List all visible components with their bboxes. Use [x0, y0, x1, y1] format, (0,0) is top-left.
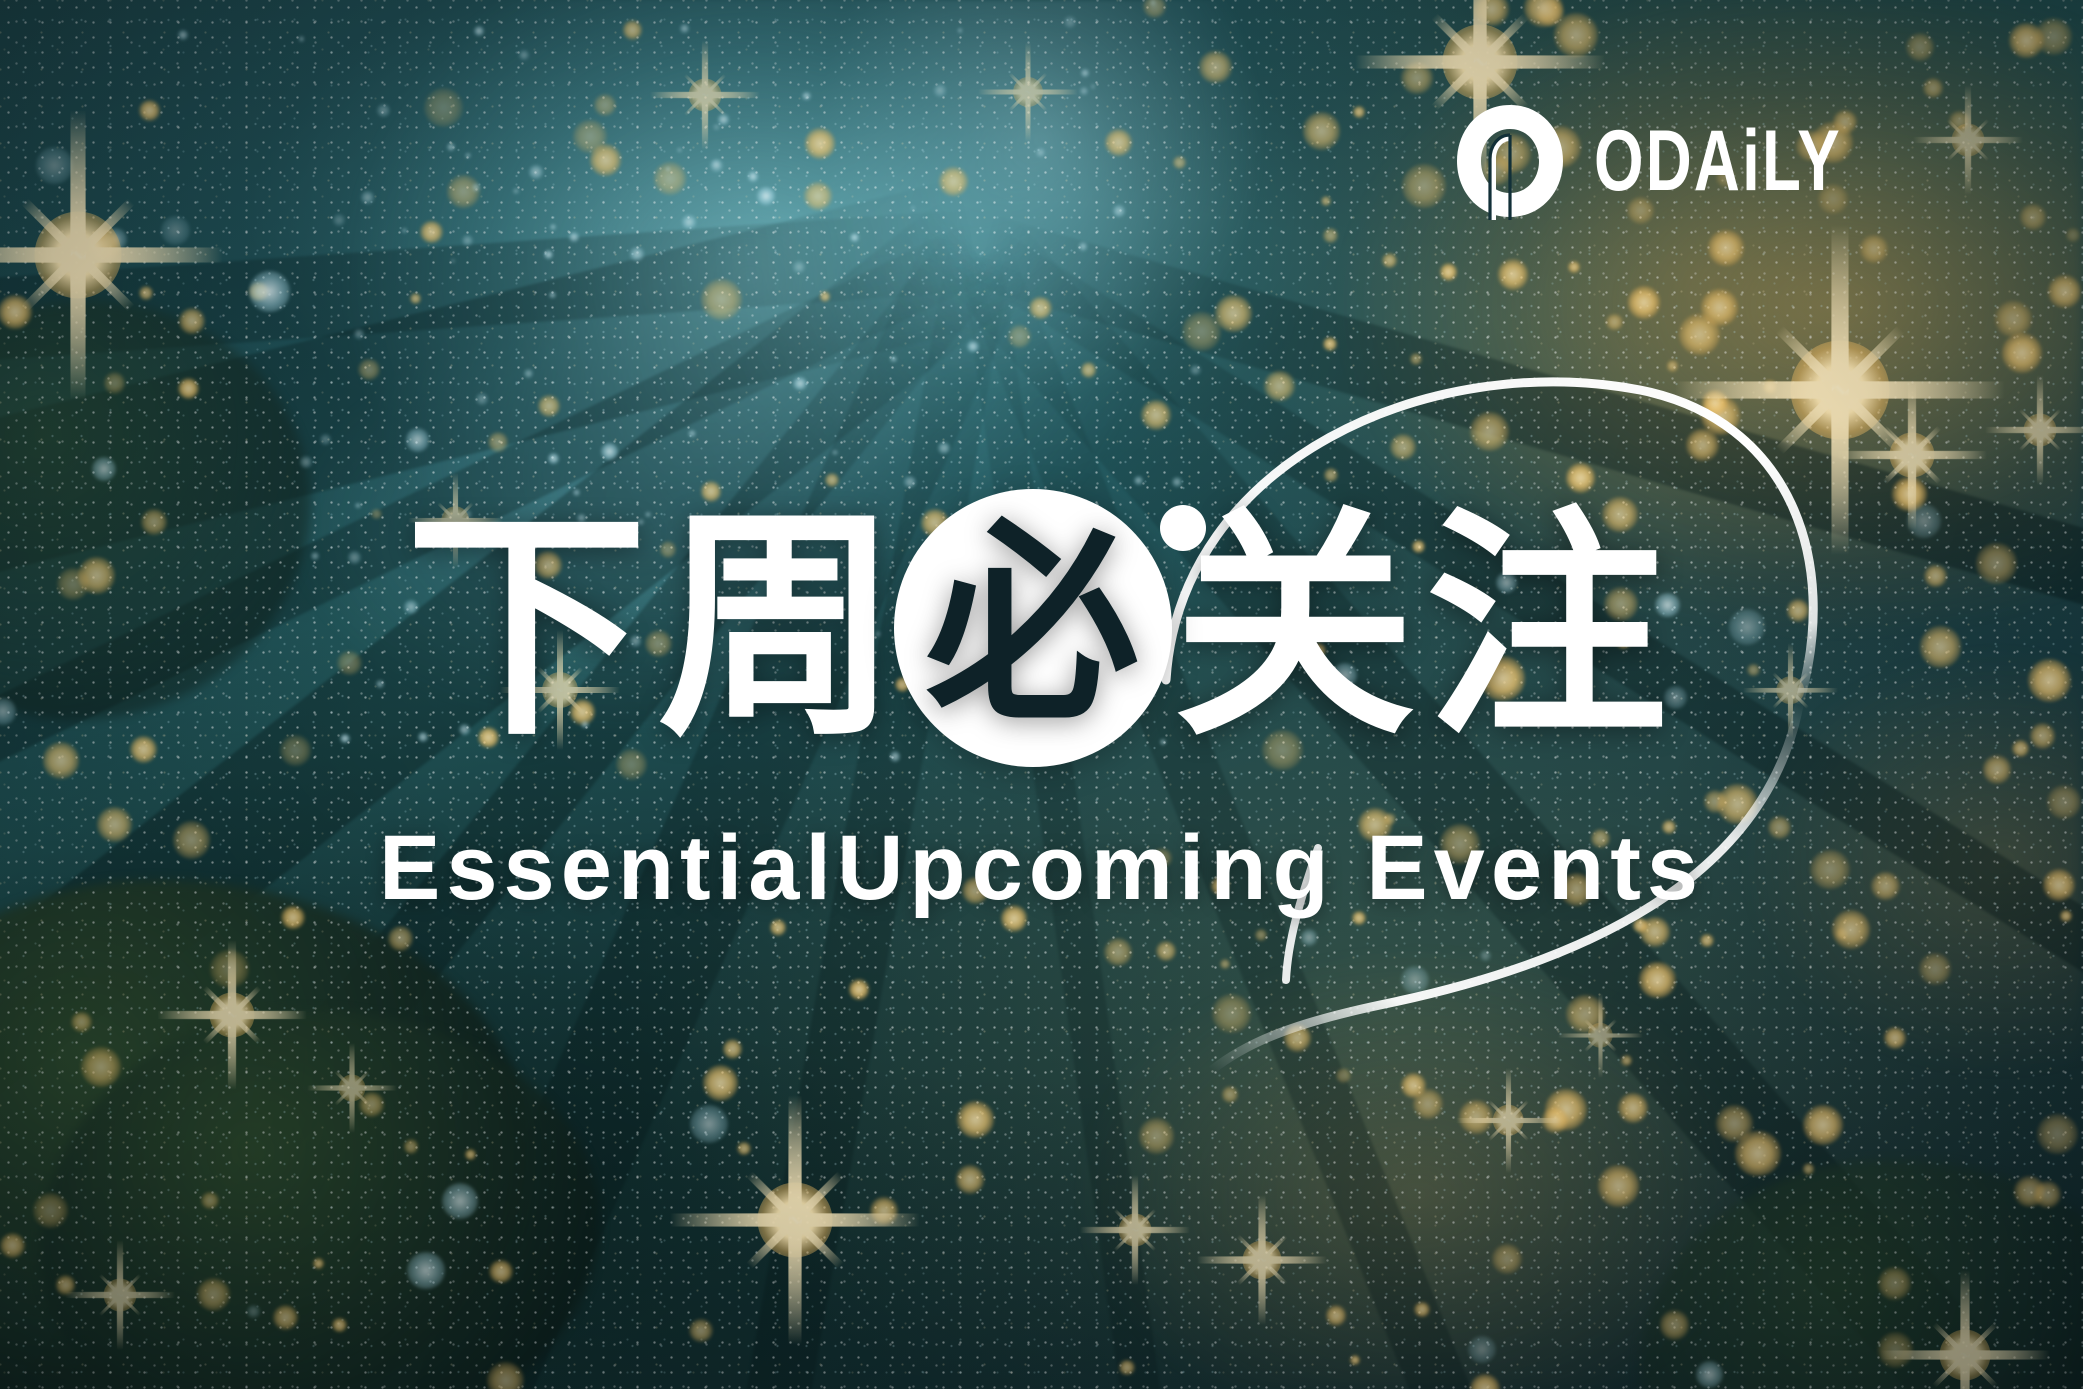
title-char-5: 注 — [1426, 507, 1678, 749]
banner-canvas: ODAiLY 下 周 必 关 注 EssentialUpcoming Event… — [0, 0, 2083, 1389]
title-char-4: 关 — [1174, 507, 1426, 749]
headline-row: 下 周 必 关 注 — [0, 478, 2083, 778]
chinese-title: 下 周 必 关 注 — [405, 489, 1677, 767]
title-char-2: 周 — [657, 507, 909, 749]
subtitle-text: EssentialUpcoming Events — [0, 822, 2083, 914]
badge-char: 必 — [926, 519, 1140, 733]
odaily-circle-mark — [1452, 102, 1568, 220]
title-char-1: 下 — [405, 507, 657, 749]
odaily-wordmark: ODAiLY — [1594, 118, 1842, 204]
highlighted-char-badge: 必 — [894, 489, 1172, 767]
badge-accent-dot — [1160, 505, 1206, 551]
odaily-logo[interactable]: ODAiLY — [1452, 102, 1929, 220]
